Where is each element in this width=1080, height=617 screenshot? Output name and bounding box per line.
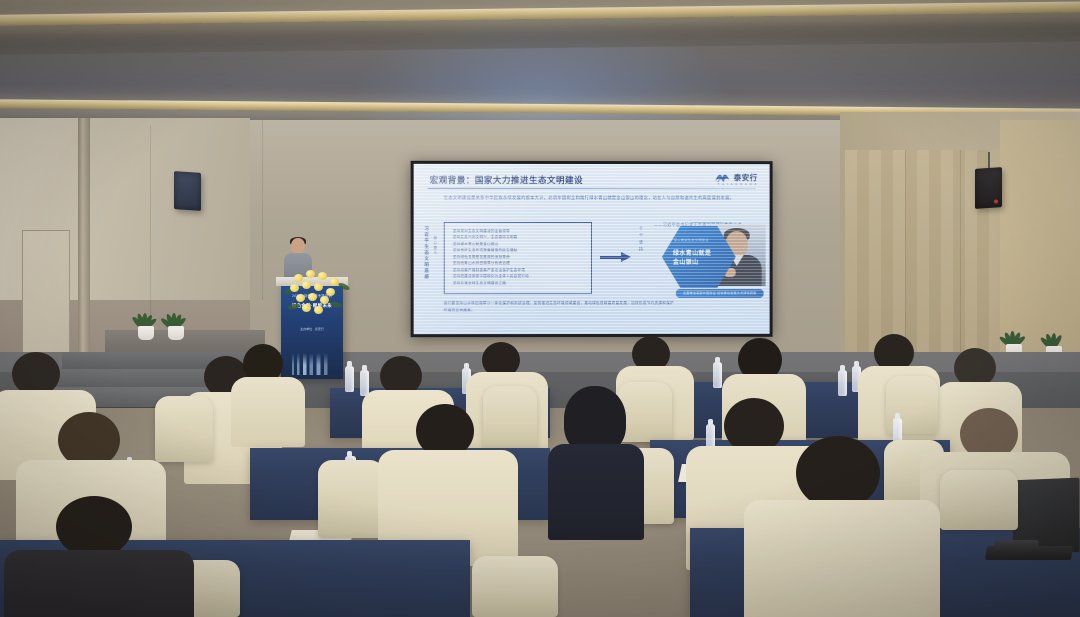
potted-plant	[163, 312, 191, 340]
flower-bloom	[314, 306, 323, 314]
flower-leaf	[288, 303, 301, 310]
mobile-phone	[993, 540, 1039, 552]
speaker-led-indicator	[994, 199, 998, 203]
audience-member	[390, 404, 500, 554]
flower-bloom	[302, 304, 311, 312]
audience-member-foreground	[760, 436, 920, 617]
slide-title-underline	[428, 188, 756, 189]
slide-middle-vertical-text: 十个坚持	[638, 226, 644, 254]
flower-bloom	[308, 293, 317, 301]
audience-member	[235, 344, 297, 434]
chair	[318, 460, 384, 538]
slide-quote: 生态文明建设是关系中华民族永续发展的根本大计。必须牢固树立和践行绿水青山就是金山…	[444, 194, 744, 202]
left-wall-door	[22, 230, 70, 355]
right-wall-speaker	[975, 167, 1002, 209]
flower-bloom	[294, 274, 303, 282]
slide-footer-note: 我们要坚持山水林田湖草沙一体化保护和系统治理，加快推进生态环境领域建设，推动绿色…	[444, 300, 674, 314]
flower-bloom	[290, 284, 299, 292]
water-bottle	[713, 362, 722, 388]
plant-pot	[138, 326, 154, 340]
chair	[940, 470, 1018, 530]
flower-arrangement	[284, 268, 354, 322]
hexagon-footer-banner: 全面推进美丽中国建设 加快推动发展方式绿色转型	[676, 289, 764, 298]
water-bottle	[345, 366, 354, 392]
flower-bloom	[330, 278, 339, 286]
slide-hexagon-graphic: 深入推进生态文明建设 绿水青山就是 金山银山 全面推进美丽中国建设 加快推动发展…	[662, 222, 766, 300]
slide-title: 宏观背景：国家大力推进生态文明建设	[430, 174, 583, 186]
hexagon-caption: 深入推进生态文明建设	[674, 238, 709, 242]
slide-bullet-item: 坚持共谋全球生态文明建设之路	[453, 280, 587, 287]
flower-leaf	[338, 282, 351, 292]
flower-leaf	[330, 301, 343, 308]
hexagon-headline-line2: 金山银山	[673, 259, 699, 267]
slide-vertical-label: 习近平生态文明思想	[424, 226, 430, 280]
person-head	[56, 496, 132, 558]
wall-seam	[262, 120, 263, 300]
flower-bloom	[302, 281, 311, 289]
conference-room-photo: 宏观背景：国家大力推进生态文明建设 泰安行 T A I A N B A N K …	[0, 0, 1080, 617]
person-torso	[231, 377, 305, 447]
flower-bloom	[296, 294, 305, 302]
bank-logo-text: 泰安行	[734, 172, 758, 183]
presenter-head	[291, 238, 305, 254]
led-display-screen: 宏观背景：国家大力推进生态文明建设 泰安行 T A I A N B A N K …	[411, 161, 773, 337]
flower-bloom	[326, 288, 335, 296]
plant-pot	[168, 326, 184, 340]
slide-vertical-label-secondary: 核心要义	[434, 236, 439, 255]
flower-bloom	[318, 272, 327, 280]
slide-bullet-box: 坚持党对生态文明建设的全面领导 坚持生态兴则文明兴，生态衰则文明衰 坚持绿水青山…	[444, 222, 592, 294]
audience-member-dark-hair	[548, 386, 644, 526]
water-bottle	[838, 370, 847, 396]
slide-content: 宏观背景：国家大力推进生态文明建设 泰安行 T A I A N B A N K …	[414, 164, 770, 334]
flower-bloom	[306, 270, 315, 278]
slide-arrow-icon	[600, 252, 632, 262]
person-head	[796, 436, 880, 510]
person-torso	[744, 500, 940, 617]
person-torso	[4, 550, 194, 617]
audience-member-foreground	[22, 496, 172, 617]
chair	[472, 556, 558, 617]
podium-banner-line3: 主办单位 · 泰安行	[285, 327, 339, 331]
flower-bloom	[320, 296, 329, 304]
person-torso	[548, 444, 644, 540]
flower-bloom	[314, 283, 323, 291]
chair	[155, 396, 213, 462]
hexagon-headline-line1: 绿水青山就是	[673, 250, 711, 258]
bank-logo-subtext: T A I A N B A N K	[718, 183, 758, 186]
left-wall-speaker	[174, 171, 201, 211]
